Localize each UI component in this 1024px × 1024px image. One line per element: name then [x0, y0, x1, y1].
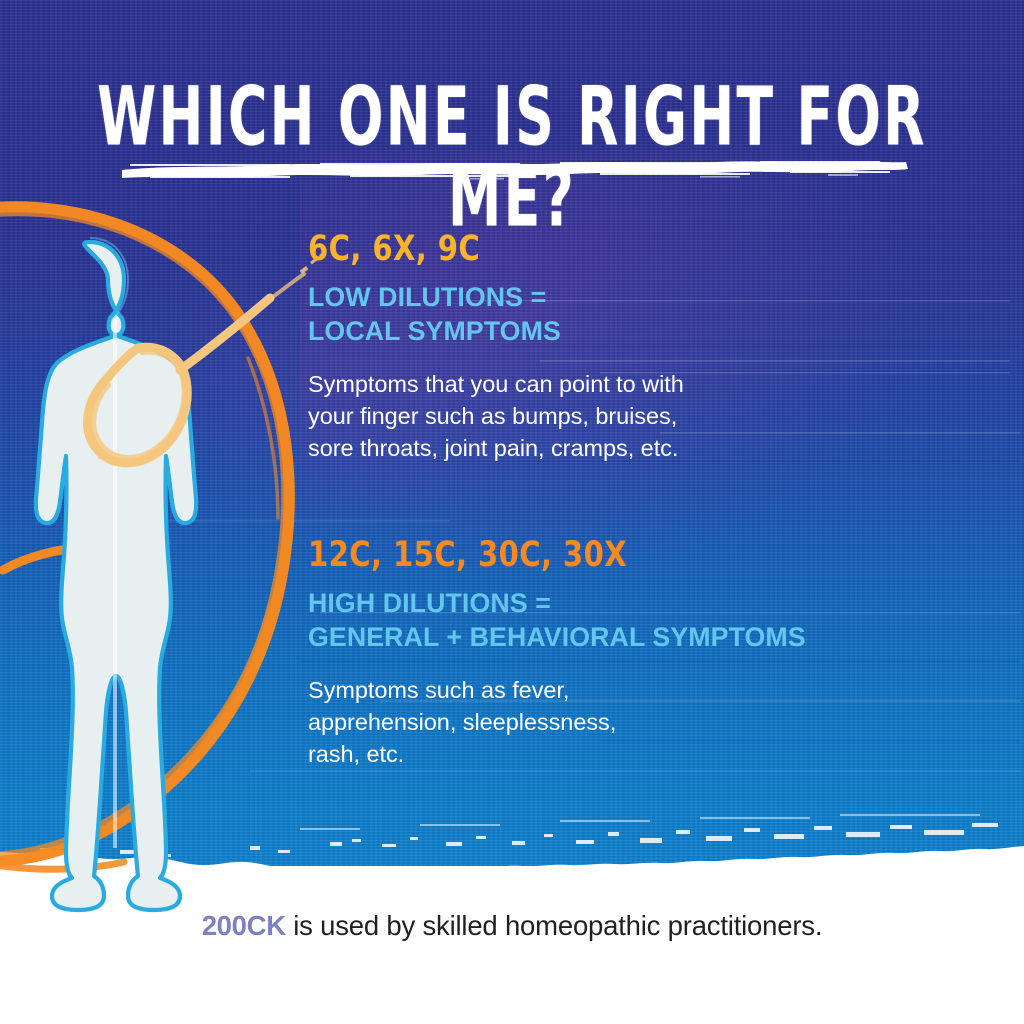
human-body-silhouette: [36, 238, 196, 910]
footer-dilution-code: 200CK: [202, 910, 286, 941]
dose-label-low: 6C, 6X, 9C: [308, 232, 672, 267]
subhead-high: HIGH DILUTIONS = GENERAL + BEHAVIORAL SY…: [308, 586, 806, 654]
infographic-poster: WHICH ONE IS RIGHT FOR ME?: [0, 0, 1024, 1024]
footer-sentence: is used by skilled homeopathic practitio…: [286, 910, 823, 941]
dilution-block-low: 6C, 6X, 9C LOW DILUTIONS = LOCAL SYMPTOM…: [308, 232, 684, 464]
body-text-high: Symptoms such as fever, apprehension, sl…: [308, 674, 811, 770]
body-text-low: Symptoms that you can point to with your…: [308, 368, 684, 464]
subhead-low: LOW DILUTIONS = LOCAL SYMPTOMS: [308, 280, 680, 348]
dose-label-high: 12C, 15C, 30C, 30X: [308, 538, 796, 573]
illustration-group: [0, 198, 348, 918]
dilution-block-high: 12C, 15C, 30C, 30X HIGH DILUTIONS = GENE…: [308, 538, 811, 770]
footer-note: 200CK is used by skilled homeopathic pra…: [0, 910, 1024, 942]
title-brush-underline: [0, 156, 1024, 182]
